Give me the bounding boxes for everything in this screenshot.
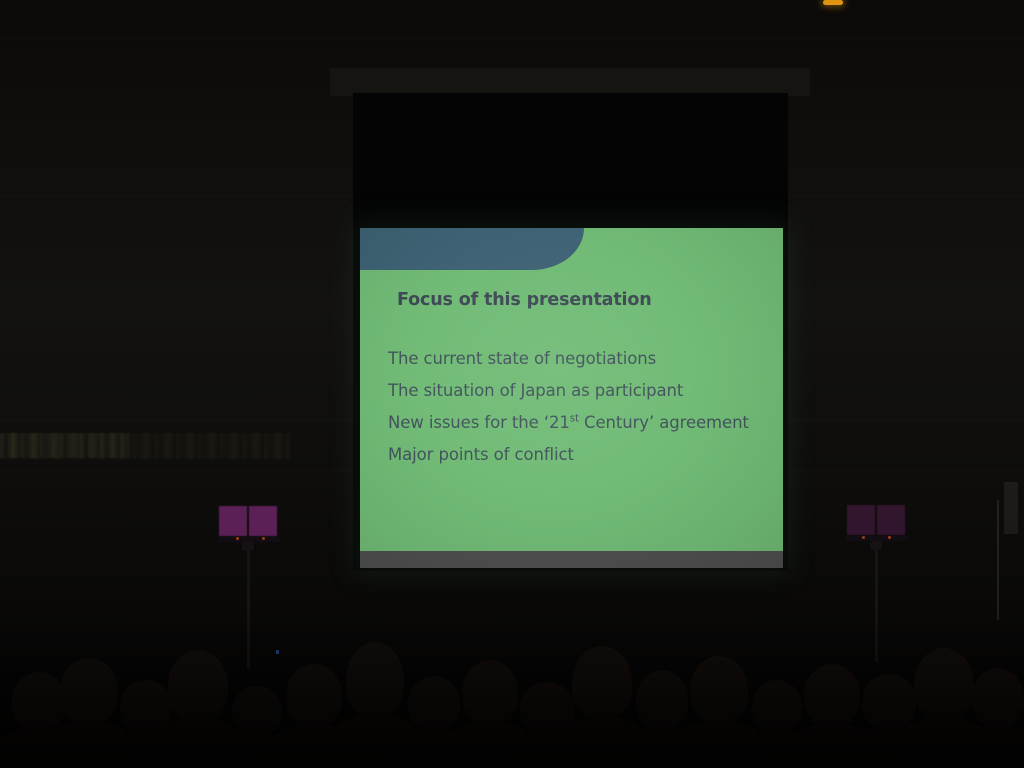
bullet-superscript: st bbox=[570, 414, 579, 425]
list-item: Major points of conflict bbox=[388, 439, 778, 471]
presentation-photo-scene: Focus of this presentation The current s… bbox=[0, 0, 1024, 768]
bullet-text: New issues for the ‘21 bbox=[388, 413, 570, 432]
slide-bullet-list: The current state of negotiations The si… bbox=[388, 343, 778, 471]
light-indicator-icon bbox=[888, 536, 891, 539]
wall-right-pole bbox=[997, 500, 999, 620]
list-item: New issues for the ‘21st Century’ agreem… bbox=[388, 407, 778, 439]
stage-light-head bbox=[846, 505, 906, 535]
list-item: The current state of negotiations bbox=[388, 343, 778, 375]
light-panel-icon bbox=[219, 506, 247, 536]
audience-silhouettes bbox=[0, 608, 1024, 768]
light-panel-icon bbox=[877, 505, 905, 535]
stage-light-joint bbox=[870, 541, 882, 550]
wall-right-panel bbox=[1004, 482, 1018, 534]
light-indicator-icon bbox=[862, 536, 865, 539]
list-item: The situation of Japan as participant bbox=[388, 375, 778, 407]
light-indicator-icon bbox=[262, 537, 265, 540]
bullet-text: Major points of conflict bbox=[388, 445, 574, 464]
ceiling-light-icon bbox=[823, 0, 843, 5]
slide-content: Focus of this presentation The current s… bbox=[360, 228, 783, 568]
light-panel-icon bbox=[847, 505, 875, 535]
light-indicator-icon bbox=[236, 537, 239, 540]
slide-title: Focus of this presentation bbox=[397, 290, 652, 310]
projected-slide: Focus of this presentation The current s… bbox=[360, 228, 783, 568]
stage-light-head bbox=[218, 506, 278, 536]
stage-light-joint bbox=[242, 542, 254, 551]
bullet-text: The current state of negotiations bbox=[388, 349, 656, 368]
bullet-text-tail: Century’ agreement bbox=[579, 413, 749, 432]
projection-screen-housing bbox=[330, 68, 810, 96]
light-panel-icon bbox=[249, 506, 277, 536]
bullet-text: The situation of Japan as participant bbox=[388, 381, 683, 400]
slide-footer-strip bbox=[360, 551, 783, 568]
wall-seam bbox=[0, 38, 1024, 39]
audience-shadow-overlay bbox=[0, 608, 1024, 768]
wall-texture-band bbox=[0, 433, 130, 458]
